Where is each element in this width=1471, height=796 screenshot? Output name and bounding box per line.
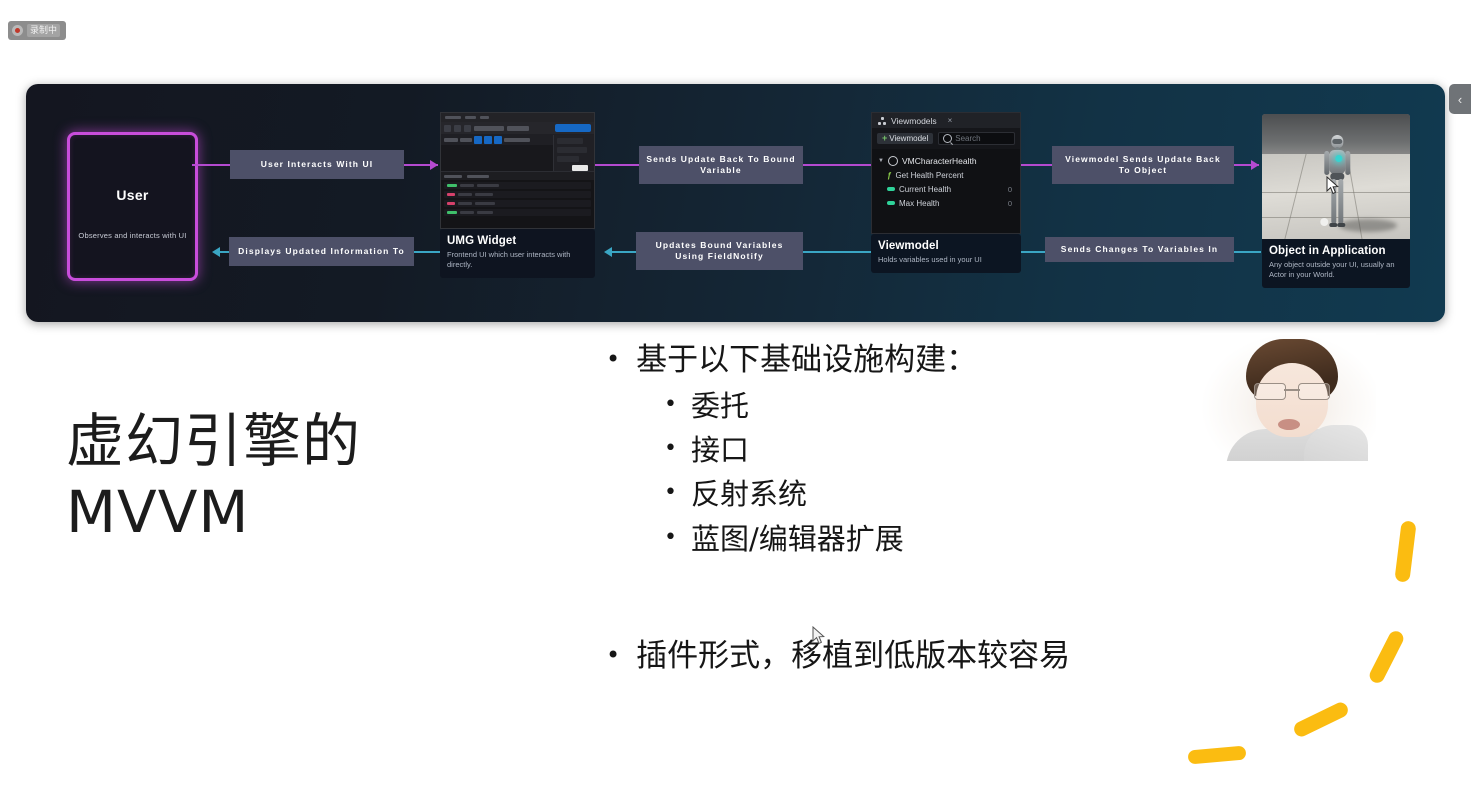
umg-node-caption: UMG Widget Frontend UI which user intera… xyxy=(440,229,595,278)
umg-toolbar-button xyxy=(464,125,471,132)
umg-node-title: UMG Widget xyxy=(447,235,588,247)
bullet-list: • 基于以下基础设施构建： • 委托 • 接口 • 反射系统 • 蓝图/编辑器扩… xyxy=(606,344,1266,554)
page-title: 虚幻引擎的 MVVM xyxy=(66,406,486,549)
user-node-description: Observes and interacts with UI xyxy=(76,231,189,240)
umg-toolbar-button xyxy=(444,125,451,132)
bullet-item: • 基于以下基础设施构建： xyxy=(606,344,1266,377)
bullet-text: 反射系统 xyxy=(691,479,807,509)
edge-label-viewmodel-to-object: Viewmodel Sends Update Back To Object xyxy=(1052,146,1234,184)
umg-node-description: Frontend UI which user interacts with di… xyxy=(447,250,588,270)
decor-dash xyxy=(1367,629,1406,686)
umg-editor-toolbar xyxy=(441,122,594,134)
umg-graph-tab xyxy=(467,175,489,178)
umg-graph-chip xyxy=(458,193,472,196)
viewmodels-tree: ▼ VMCharacterHealth ƒ Get Health Percent… xyxy=(872,149,1020,214)
tree-item-label: VMCharacterHealth xyxy=(902,156,977,166)
diagram-node-viewmodel: Viewmodel Holds variables used in your U… xyxy=(871,234,1021,273)
webcam-person-mouth xyxy=(1278,419,1300,430)
umg-graph-pin xyxy=(447,202,455,205)
umg-sub-selected xyxy=(494,136,502,144)
diagram-node-object: Object in Application Any object outside… xyxy=(1262,114,1410,288)
bullet-glyph: • xyxy=(664,391,677,420)
object-node-caption: Object in Application Any object outside… xyxy=(1262,239,1410,288)
edge-label-object-to-viewmodel: Sends Changes To Variables In xyxy=(1045,237,1234,262)
umg-editor-tab-2 xyxy=(465,116,476,119)
object-node-description: Any object outside your UI, usually an A… xyxy=(1269,260,1403,280)
umg-graph-row xyxy=(444,191,591,198)
edge-arrowhead-umg-to-user xyxy=(212,247,220,257)
umg-editor-titlebar xyxy=(441,113,594,122)
diagram-node-user: User Observes and interacts with UI xyxy=(67,132,198,281)
viewmodel-class-icon xyxy=(888,156,898,166)
umg-design-canvas: HP xyxy=(441,145,554,172)
page-title-line1: 虚幻引擎的 xyxy=(66,406,486,477)
umg-details-panel xyxy=(553,135,594,172)
recording-badge: 录制中 xyxy=(8,21,66,40)
variable-icon xyxy=(887,187,895,191)
webcam-person-glasses xyxy=(1254,383,1330,398)
webcam-feed xyxy=(1200,333,1376,461)
object-node-title: Object in Application xyxy=(1269,245,1403,257)
edge-label-user-to-umg: User Interacts With UI xyxy=(230,150,404,179)
decor-dash xyxy=(1292,700,1351,739)
umg-editor-screenshot: HP xyxy=(440,112,595,229)
collapse-panel-button[interactable]: ‹ xyxy=(1449,84,1471,114)
viewmodel-node-title: Viewmodel xyxy=(878,240,1014,252)
tree-item-label: Get Health Percent xyxy=(895,171,963,180)
bullet-glyph: • xyxy=(606,640,620,670)
tree-item-max-health[interactable]: Max Health 0 xyxy=(876,196,1016,210)
edge-label-umg-to-user: Displays Updated Information To xyxy=(229,237,414,266)
umg-graph-pin xyxy=(447,193,455,196)
edge-label-viewmodel-to-umg: Updates Bound Variables Using FieldNotif… xyxy=(636,232,803,270)
page-title-line2: MVVM xyxy=(66,477,486,548)
bullet-item: • 蓝图/编辑器扩展 xyxy=(664,524,1266,554)
search-icon xyxy=(943,134,952,143)
umg-sub-chip xyxy=(460,138,472,142)
umg-sub-selected xyxy=(474,136,482,144)
umg-graph-chip xyxy=(460,211,474,214)
bullet-item: • 接口 xyxy=(664,435,1266,465)
chevron-down-icon[interactable]: ▼ xyxy=(878,158,884,164)
recording-label: 录制中 xyxy=(27,24,60,37)
tree-item-value: 0 xyxy=(1008,199,1016,208)
umg-graph-row xyxy=(444,200,591,207)
umg-graph-tab xyxy=(444,175,462,178)
bullet-text: 基于以下基础设施构建： xyxy=(636,344,977,377)
add-viewmodel-button[interactable]: + Viewmodel xyxy=(877,133,933,144)
umg-detail-row xyxy=(557,138,583,144)
scene-background xyxy=(1262,114,1410,239)
decor-dash xyxy=(1394,520,1416,582)
umg-toolbar-options xyxy=(507,126,529,131)
edge-arrowhead-viewmodel-to-object xyxy=(1251,160,1259,170)
umg-detail-row xyxy=(557,156,579,162)
umg-graph-chip xyxy=(458,202,472,205)
viewmodel-node-caption: Viewmodel Holds variables used in your U… xyxy=(871,234,1021,273)
umg-editor-tab-1 xyxy=(445,116,461,119)
function-icon: ƒ xyxy=(887,171,891,180)
record-dot-icon xyxy=(12,25,23,36)
viewmodels-panel: Viewmodels × + Viewmodel Search ▼ VMChar… xyxy=(871,112,1021,234)
diagram-node-umg-widget: UMG Widget Frontend UI which user intera… xyxy=(440,229,595,278)
scene-floor-line xyxy=(1284,154,1306,239)
tree-item-current-health[interactable]: Current Health 0 xyxy=(876,182,1016,196)
bullet-item: • 反射系统 xyxy=(664,479,1266,509)
edge-arrowhead-viewmodel-to-umg xyxy=(604,247,612,257)
bullet-glyph: • xyxy=(606,344,620,374)
umg-graph-row xyxy=(444,182,591,189)
add-viewmodel-label: Viewmodel xyxy=(889,134,928,143)
umg-graph-chip xyxy=(477,184,499,187)
bullet-text: 插件形式，移植到低版本较容易 xyxy=(636,640,1070,673)
umg-graph-chip xyxy=(477,211,493,214)
tree-item-label: Current Health xyxy=(899,185,951,194)
umg-toolbar-path xyxy=(474,126,504,131)
decor-dash xyxy=(1188,745,1247,764)
viewmodels-search-input[interactable]: Search xyxy=(938,132,1015,145)
variable-icon xyxy=(887,201,895,205)
umg-graph-pin xyxy=(447,211,457,214)
viewmodels-tab-icon xyxy=(878,117,886,125)
bullet-text: 委托 xyxy=(691,391,749,421)
umg-sub-chip xyxy=(444,138,458,142)
viewmodels-tab-label: Viewmodels xyxy=(891,116,937,126)
viewmodels-toolbar: + Viewmodel Search xyxy=(872,128,1020,149)
umg-graph-pin xyxy=(447,184,457,187)
close-icon[interactable]: × xyxy=(948,116,953,125)
bullet-item: • 委托 xyxy=(664,391,1266,421)
umg-compile-button xyxy=(555,124,591,132)
robot-character xyxy=(1324,135,1350,226)
umg-graph-panel xyxy=(441,171,594,228)
umg-graph-chip xyxy=(460,184,474,187)
bullet-item: • 插件形式，移植到低版本较容易 xyxy=(606,640,1366,673)
tree-item-value: 0 xyxy=(1008,185,1016,194)
tree-item-label: Max Health xyxy=(899,199,939,208)
umg-graph-chip xyxy=(475,202,495,205)
bullet-glyph: • xyxy=(664,479,677,508)
plus-icon: + xyxy=(882,134,887,143)
edge-arrowhead-user-to-umg xyxy=(430,160,438,170)
umg-graph-tabs xyxy=(441,172,594,180)
search-placeholder: Search xyxy=(955,134,980,143)
bullet-glyph: • xyxy=(664,435,677,464)
umg-graph-chip xyxy=(475,193,493,196)
diagram-canvas: User Observes and interacts with UI User… xyxy=(26,84,1445,322)
bullet-text: 蓝图/编辑器扩展 xyxy=(691,524,904,554)
tree-item-vmcharacterhealth[interactable]: ▼ VMCharacterHealth xyxy=(876,154,1016,168)
mvvm-diagram-panel: User Observes and interacts with UI User… xyxy=(26,84,1445,322)
object-scene-thumbnail xyxy=(1262,114,1410,239)
bullet-glyph: • xyxy=(664,524,677,553)
umg-editor-tab-3 xyxy=(480,116,489,119)
user-node-title: User xyxy=(70,187,195,203)
umg-sub-selected xyxy=(484,136,492,144)
viewmodel-node-description: Holds variables used in your UI xyxy=(878,255,1014,265)
tree-item-get-health-percent[interactable]: ƒ Get Health Percent xyxy=(876,168,1016,182)
bullet-text: 接口 xyxy=(691,435,749,465)
umg-graph-row xyxy=(444,209,591,216)
umg-detail-row xyxy=(557,147,587,153)
umg-toolbar-button xyxy=(454,125,461,132)
bullet-list-secondary: • 插件形式，移植到低版本较容易 xyxy=(606,640,1366,673)
edge-label-umg-to-viewmodel: Sends Update Back To Bound Variable xyxy=(639,146,803,184)
viewmodels-tab[interactable]: Viewmodels × xyxy=(872,113,1020,128)
umg-sub-chip xyxy=(504,138,530,142)
